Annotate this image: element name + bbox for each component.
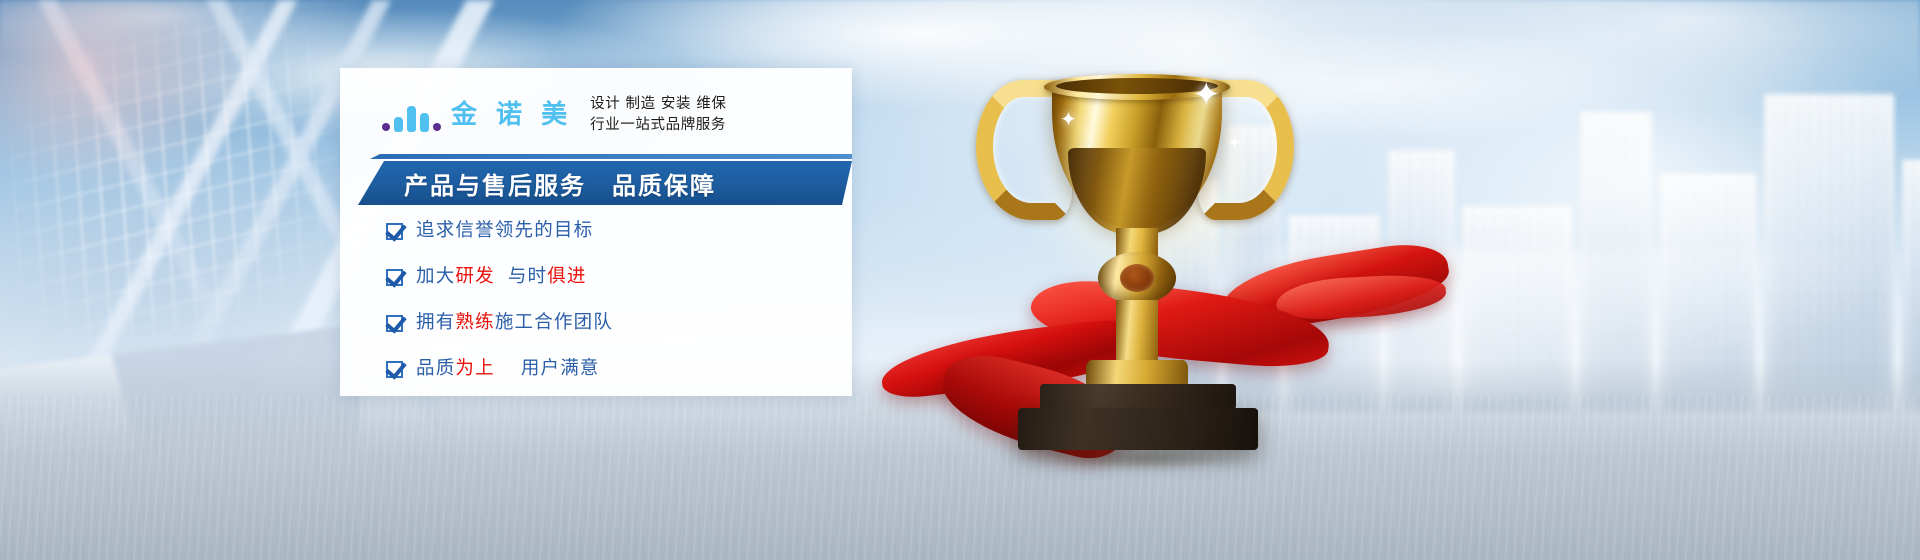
logo-tagline-line2: 行业一站式品牌服务 [590,115,726,136]
checkbox-checked-icon [386,269,403,286]
headline-ribbon: 产品与售后服务 品质保障 [358,154,858,210]
logo-row: 金 诺 美 设计 制造 安装 维保 行业一站式品牌服务 [382,94,727,135]
checkbox-checked-icon [386,223,403,240]
checklist-item: 拥有熟练施工合作团队 [386,306,826,341]
checkbox-checked-icon [386,361,403,378]
sparkle-icon: ✦ [1060,110,1077,130]
checklist-item-label: 品质为上用户满意 [416,360,600,379]
sparkle-icon: ✦ [1228,136,1241,152]
content-card: 金 诺 美 设计 制造 安装 维保 行业一站式品牌服务 产品与售后服务 品质保障… [340,68,852,396]
headline-bar: 产品与售后服务 品质保障 [358,161,852,205]
warm-light-haze [0,0,280,230]
sparkle-icon: ✦ [1192,78,1221,112]
logo-tagline-line1: 设计 制造 安装 维保 [590,94,726,115]
checklist-item-label: 拥有熟练施工合作团队 [416,314,613,333]
feature-checklist: 追求信誉领先的目标加大研发与时俱进拥有熟练施工合作团队品质为上用户满意 [386,214,826,398]
headline-accent-stripe [370,154,852,159]
checklist-item-label: 加大研发与时俱进 [416,268,587,287]
checklist-item: 加大研发与时俱进 [386,260,826,295]
checklist-item-label: 追求信誉领先的目标 [416,222,593,241]
headline-text: 产品与售后服务 品质保障 [404,166,716,201]
logo-name: 金 诺 美 [451,102,572,128]
logo-tagline: 设计 制造 安装 维保 行业一站式品牌服务 [590,94,726,135]
checklist-item: 追求信誉领先的目标 [386,214,826,249]
checkbox-checked-icon [386,315,403,332]
promo-banner: ✦ ✦ ✦ 金 诺 美 设计 制造 安装 维保 行业一站式品牌服务 产品与售后服… [0,0,1920,560]
checklist-item: 品质为上用户满意 [386,352,826,387]
sound-bars-logo-icon [382,98,441,132]
gold-trophy-icon: ✦ ✦ ✦ [940,52,1360,472]
